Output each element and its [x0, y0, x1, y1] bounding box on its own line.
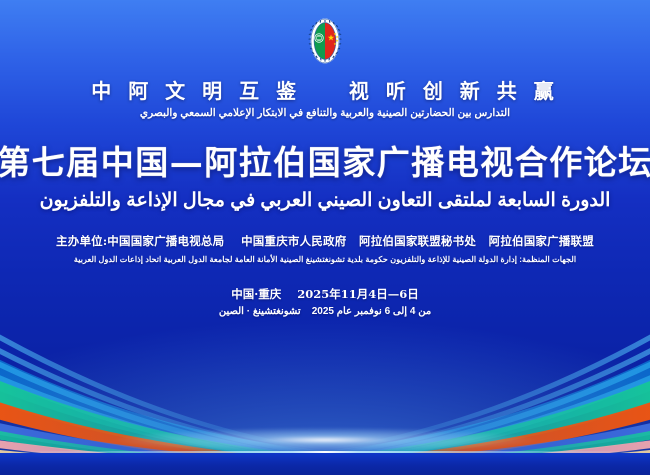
organizers-chinese: 主办单位:中国国家广播电视总局 中国重庆市人民政府 阿拉伯国家联盟秘书处 阿拉伯…: [56, 233, 594, 249]
slogan-arabic: التدارس بين الحضارتين الصينية والعربية و…: [140, 107, 510, 119]
event-info-chinese: 中国·重庆 2025年11月4日—6日: [231, 286, 419, 302]
emblem-container: [298, 16, 352, 66]
main-title-chinese: 第七届中国—阿拉伯国家广播电视合作论坛: [0, 136, 650, 184]
organizers-arabic: الجهات المنظمة: إدارة الدولة الصينية للإ…: [74, 254, 576, 264]
main-title-arabic: الدورة السابعة لملتقى التعاون الصيني الع…: [40, 189, 611, 212]
china-arab-cooperation-emblem-icon: [298, 16, 352, 66]
poster-canvas: 中 阿 文 明 互 鉴 视 听 创 新 共 赢 التدارس بين الحض…: [0, 0, 650, 475]
slogan-chinese: 中 阿 文 明 互 鉴 视 听 创 新 共 赢: [91, 80, 558, 103]
event-info-arabic: من 4 إلى 6 نوفمبر عام 2025 تشونغتشينغ · …: [219, 306, 431, 317]
poster-content: 中 阿 文 明 互 鉴 视 听 创 新 共 赢 التدارس بين الحض…: [0, 0, 650, 475]
